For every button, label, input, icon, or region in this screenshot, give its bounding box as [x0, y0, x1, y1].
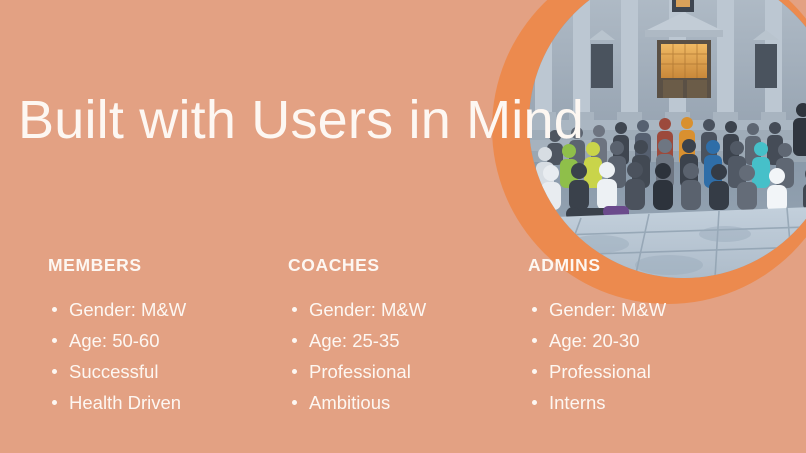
list-item: Successful — [48, 356, 288, 387]
persona-column-members: MEMBERS Gender: M&W Age: 50-60 Successfu… — [48, 255, 288, 418]
list-item: Gender: M&W — [288, 294, 528, 325]
persona-column-coaches: COACHES Gender: M&W Age: 25-35 Professio… — [288, 255, 528, 418]
list-item: Gender: M&W — [48, 294, 288, 325]
list-item: Gender: M&W — [528, 294, 768, 325]
persona-columns: MEMBERS Gender: M&W Age: 50-60 Successfu… — [48, 255, 788, 418]
list-item: Age: 25-35 — [288, 325, 528, 356]
persona-column-admins: ADMINS Gender: M&W Age: 20-30 Profession… — [528, 255, 768, 418]
presentation-slide: Built with Users in Mind MEMBERS Gender:… — [0, 0, 806, 453]
list-item: Age: 20-30 — [528, 325, 768, 356]
page-title: Built with Users in Mind — [18, 92, 584, 149]
column-heading-coaches: COACHES — [288, 255, 528, 276]
column-heading-admins: ADMINS — [528, 255, 768, 276]
list-item: Health Driven — [48, 387, 288, 418]
column-list-members: Gender: M&W Age: 50-60 Successful Health… — [48, 294, 288, 418]
list-item: Ambitious — [288, 387, 528, 418]
column-list-admins: Gender: M&W Age: 20-30 Professional Inte… — [528, 294, 768, 418]
list-item: Professional — [288, 356, 528, 387]
column-list-coaches: Gender: M&W Age: 25-35 Professional Ambi… — [288, 294, 528, 418]
list-item: Age: 50-60 — [48, 325, 288, 356]
column-heading-members: MEMBERS — [48, 255, 288, 276]
list-item: Professional — [528, 356, 768, 387]
list-item: Interns — [528, 387, 768, 418]
